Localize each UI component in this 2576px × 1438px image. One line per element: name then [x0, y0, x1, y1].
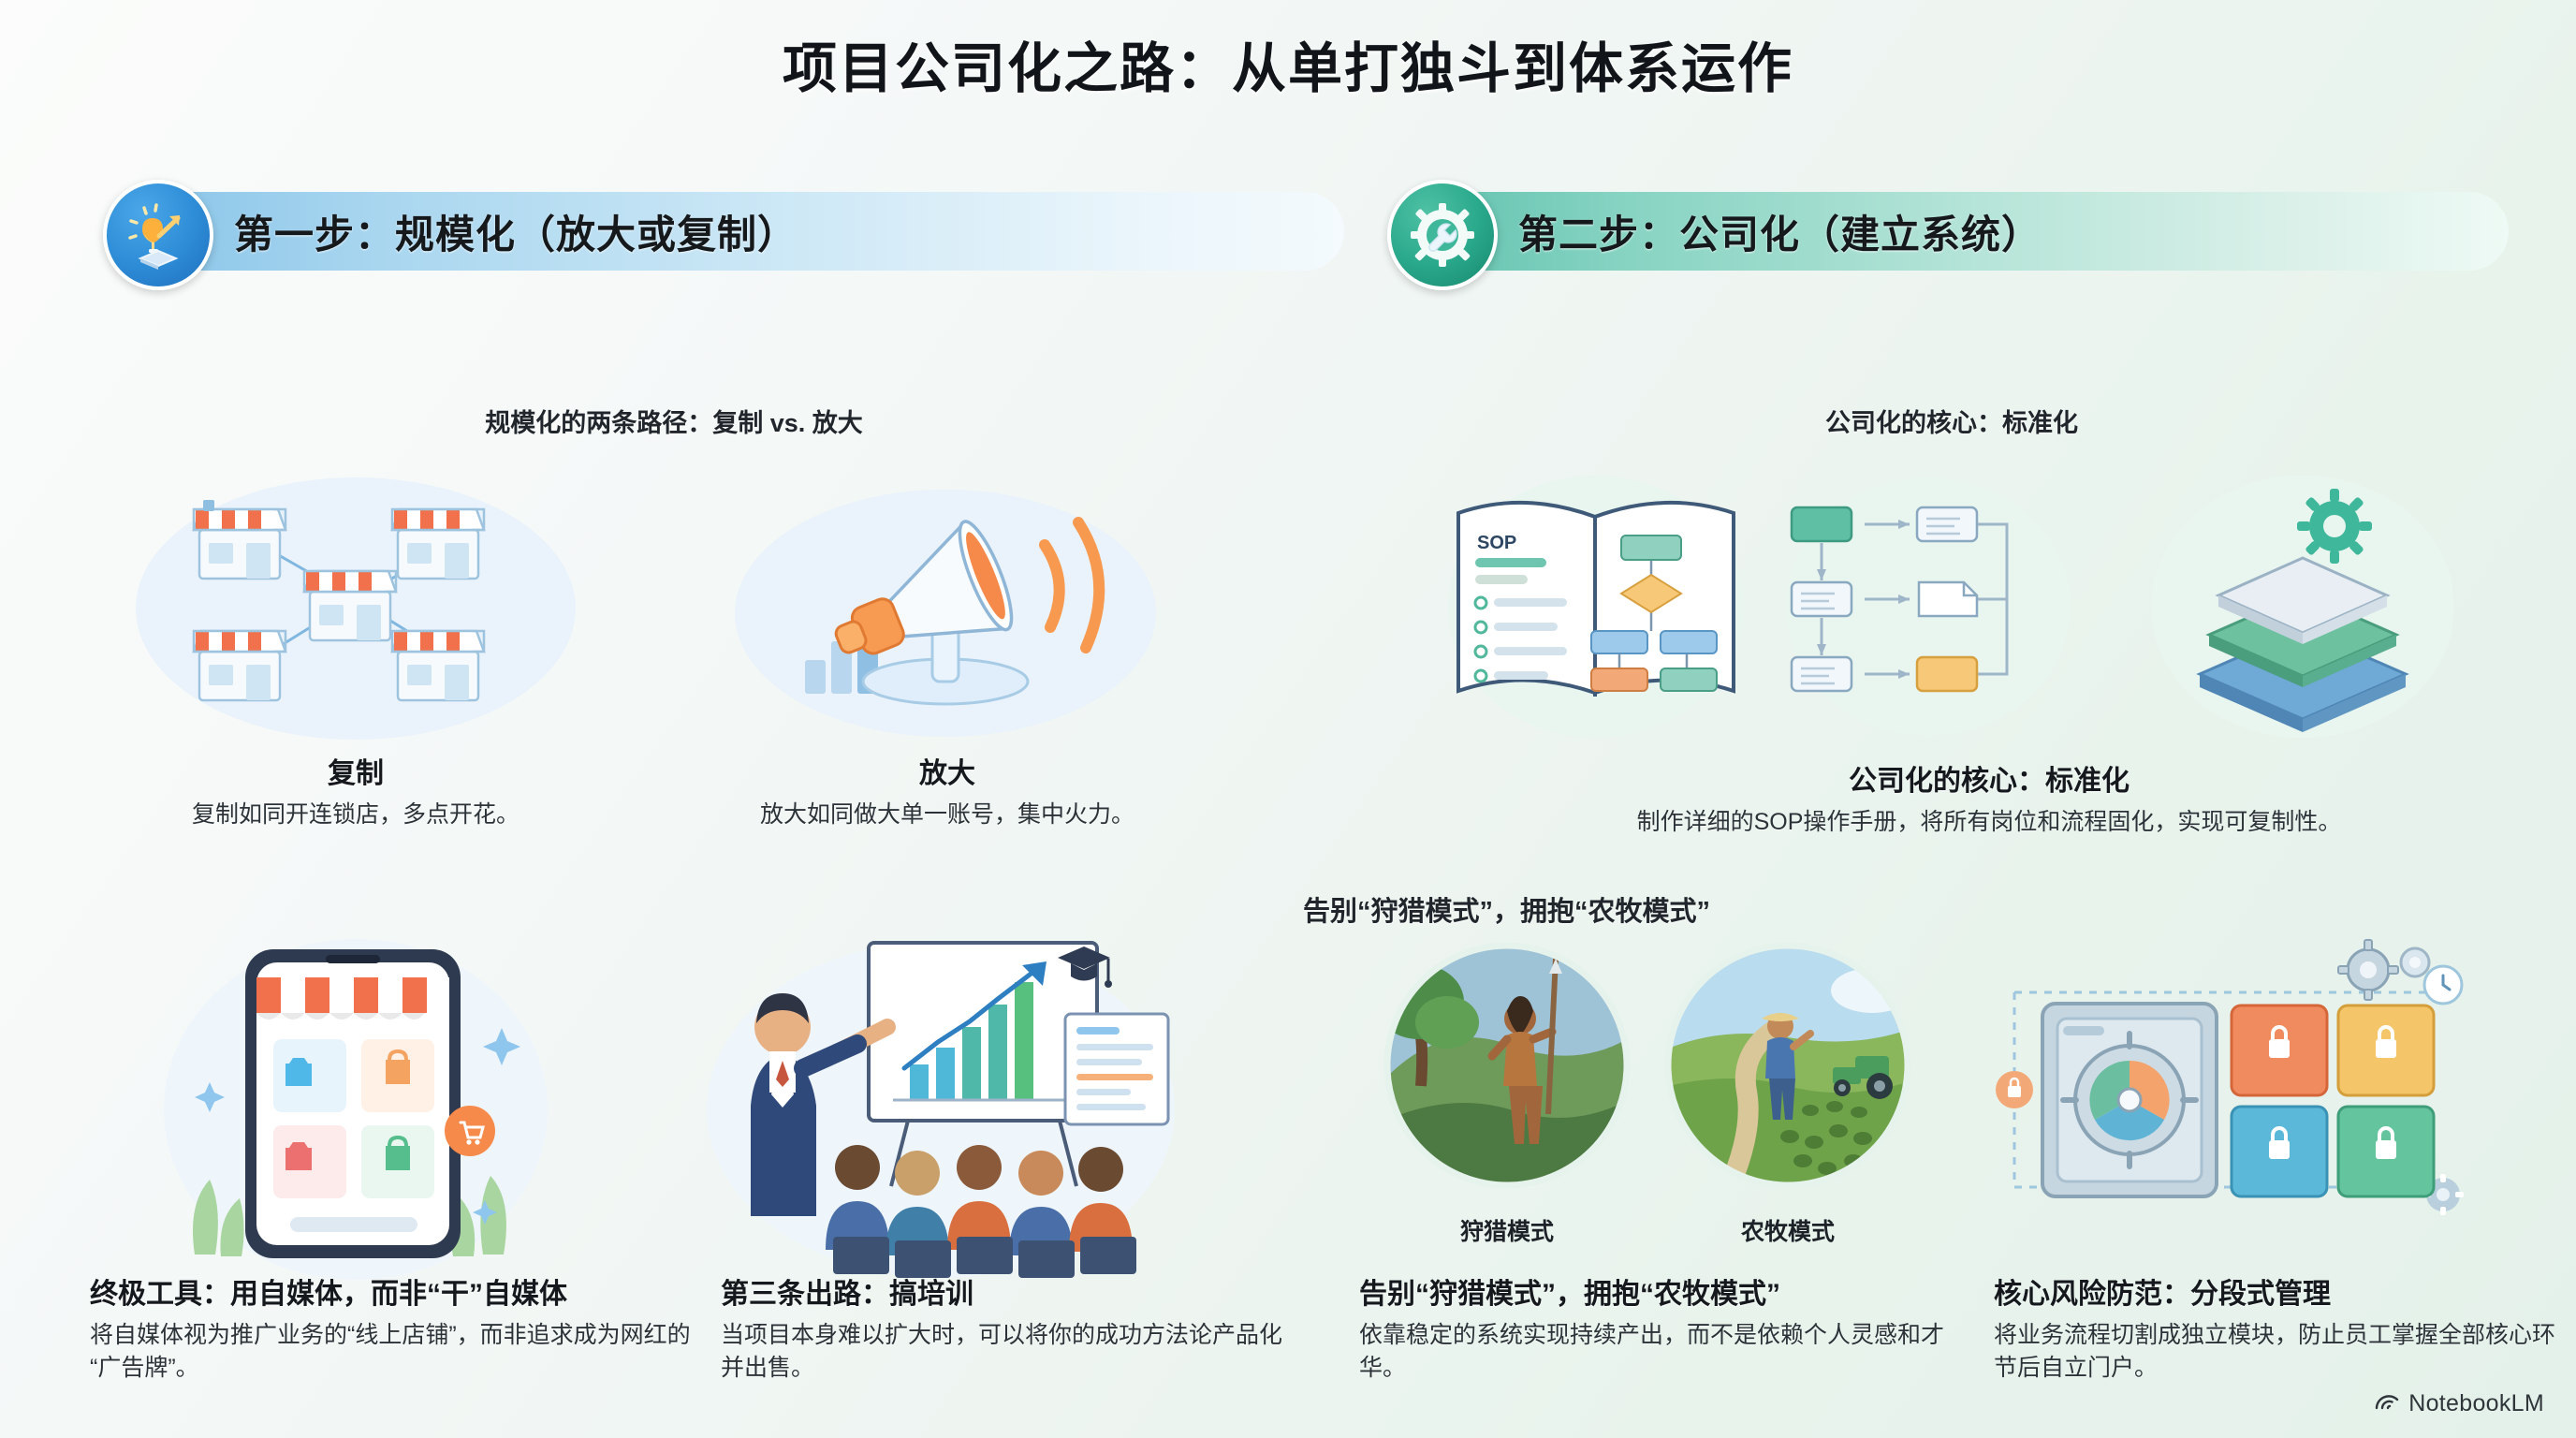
caption-body: 复制如同开连锁店，多点开花。 — [122, 799, 590, 831]
section-header-band-step-one: 第一步：规模化（放大或复制） — [110, 192, 1344, 271]
megaphone-icon — [711, 459, 1179, 740]
infographic-page: 项目公司化之路：从单打独斗到体系运作 第一步：规模化（放大或复制） 第二步：公司… — [0, 0, 2576, 1438]
caption-title: 复制 — [122, 758, 590, 791]
watermark: NotebookLM — [2374, 1390, 2544, 1417]
svg-text:SOP: SOP — [1477, 533, 1516, 553]
storefront-network-icon — [117, 459, 594, 740]
standardization-stack-icon — [2144, 457, 2462, 738]
caption-title: 放大 — [713, 758, 1181, 791]
caption-body: 放大如同做大单一账号，集中火力。 — [713, 799, 1181, 831]
caption-body: 制作详细的SOP操作手册，将所有岗位和流程固化，实现可复制性。 — [1460, 806, 2518, 839]
mini-label-hunting-mode: 狩猎模式 — [1367, 1213, 1647, 1247]
caption-title: 终极工具：用自媒体，而非“干”自媒体 — [90, 1279, 698, 1312]
lightbulb-growth-icon — [103, 180, 213, 290]
training-presentation-icon — [693, 922, 1189, 1287]
hunter-farmer-icon — [1367, 936, 1966, 1198]
section-header-label-step-one: 第一步：规模化（放大或复制） — [234, 203, 798, 260]
process-flow-diagram-icon — [1778, 457, 2078, 738]
caption-card-copy: 复制 复制如同开连锁店，多点开花。 — [122, 758, 590, 831]
caption-body: 依靠稳定的系统实现持续产出，而不是依赖个人灵感和才华。 — [1359, 1319, 1977, 1385]
caption-title: 核心风险防范：分段式管理 — [1994, 1279, 2555, 1312]
caption-title: 第三条出路：搞培训 — [721, 1279, 1282, 1312]
section-label-scaling-paths: 规模化的两条路径：复制 vs. 放大 — [0, 403, 1348, 439]
caption-card-standardization: 公司化的核心：标准化 制作详细的SOP操作手册，将所有岗位和流程固化，实现可复制… — [1460, 766, 2518, 839]
gear-wrench-icon — [1387, 180, 1498, 290]
caption-body: 将业务流程切割成独立模块，防止员工掌握全部核心环节后自立门户。 — [1994, 1319, 2555, 1385]
section-label-standardization: 公司化的核心：标准化 — [1395, 403, 2509, 439]
caption-card-risk-control: 核心风险防范：分段式管理 将业务流程切割成独立模块，防止员工掌握全部核心环节后自… — [1994, 1279, 2555, 1385]
section-header-band-step-two: 第二步：公司化（建立系统） — [1395, 192, 2509, 271]
caption-title: 公司化的核心：标准化 — [1460, 766, 2518, 799]
caption-card-amplify: 放大 放大如同做大单一账号，集中火力。 — [713, 758, 1181, 831]
caption-card-mode-shift: 告别“狩猎模式”，拥抱“农牧模式” 依靠稳定的系统实现持续产出，而不是依赖个人灵… — [1359, 1279, 1977, 1385]
caption-title: 告别“狩猎模式”，拥抱“农牧模式” — [1359, 1279, 1977, 1312]
section-sublabel-mode-shift: 告别“狩猎模式”，拥抱“农牧模式” — [1303, 889, 1710, 929]
mini-label-farming-mode: 农牧模式 — [1647, 1213, 1928, 1247]
sop-manual-flowchart-icon: SOP — [1442, 457, 1750, 738]
page-title: 项目公司化之路：从单打独斗到体系运作 — [0, 24, 2576, 103]
notebooklm-icon — [2374, 1390, 2400, 1417]
caption-body: 当项目本身难以扩大时，可以将你的成功方法论产品化并出售。 — [721, 1319, 1282, 1385]
caption-card-training: 第三条出路：搞培训 当项目本身难以扩大时，可以将你的成功方法论产品化并出售。 — [721, 1279, 1282, 1385]
mobile-shop-icon — [140, 908, 571, 1283]
watermark-label: NotebookLM — [2408, 1390, 2544, 1417]
caption-card-self-media: 终极工具：用自媒体，而非“干”自媒体 将自媒体视为推广业务的“线上店铺”，而非追… — [90, 1279, 698, 1385]
vault-modules-icon — [1975, 936, 2537, 1255]
section-header-label-step-two: 第二步：公司化（建立系统） — [1518, 203, 2042, 260]
caption-body: 将自媒体视为推广业务的“线上店铺”，而非追求成为网红的“广告牌”。 — [90, 1319, 698, 1385]
